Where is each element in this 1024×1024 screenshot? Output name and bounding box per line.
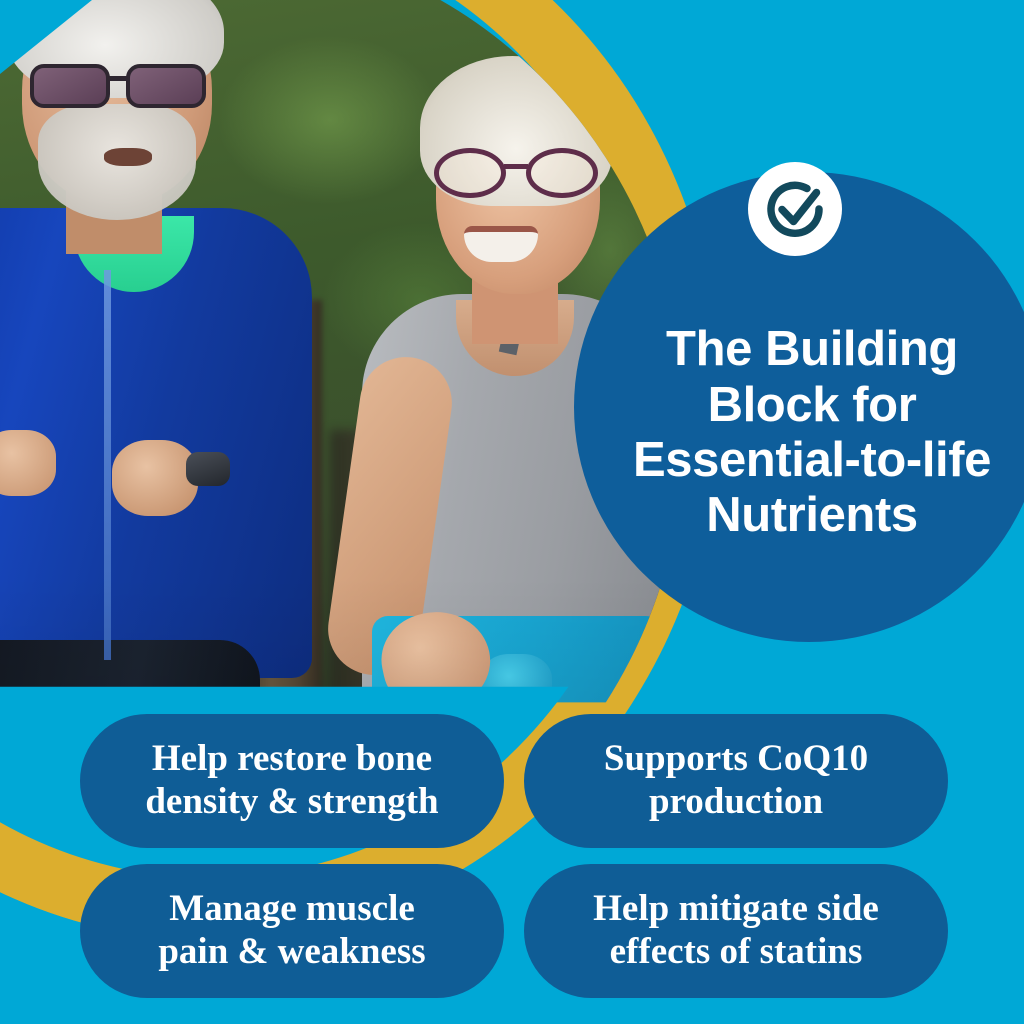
headline-line-3: Essential-to-life [602,433,1022,488]
benefit-text: Help mitigate side effects of statins [593,888,879,974]
sunglass-lens-left [30,64,110,108]
eyeglass-lens-right [526,148,598,198]
headline-line-2: Block for [602,378,1022,433]
benefit-line-1: Manage muscle [158,888,425,931]
benefit-pill-statin-side-effects[interactable]: Help mitigate side effects of statins [524,864,948,998]
benefit-text: Manage muscle pain & weakness [158,888,425,974]
man-sunglasses [30,64,214,110]
benefit-line-1: Help mitigate side [593,888,879,931]
benefit-pill-muscle-pain[interactable]: Manage muscle pain & weakness [80,864,504,998]
benefit-text: Supports CoQ10 production [604,738,868,824]
sunglass-bridge [108,76,130,81]
woman-eyeglasses [434,148,600,200]
check-circle-icon [762,176,828,242]
benefit-line-1: Supports CoQ10 [604,738,868,781]
man-hand-left [0,430,56,496]
eyeglass-lens-left [434,148,506,198]
page-title: The Building Block for Essential-to-life… [580,322,1024,543]
man-wristwatch [186,452,230,486]
benefit-pill-coq10[interactable]: Supports CoQ10 production [524,714,948,848]
benefit-line-2: production [604,781,868,824]
benefit-line-2: effects of statins [593,931,879,974]
benefit-pill-bone-density[interactable]: Help restore bone density & strength [80,714,504,848]
benefit-text: Help restore bone density & strength [145,738,438,824]
sunglass-lens-right [126,64,206,108]
benefit-line-2: density & strength [145,781,438,824]
benefit-line-2: pain & weakness [158,931,425,974]
promo-graphic: The Building Block for Essential-to-life… [0,0,1024,1024]
man-hand-right [112,440,198,516]
headline-line-1: The Building [602,322,1022,377]
headline-line-4: Nutrients [602,488,1022,543]
man-jacket-zipper [104,270,111,660]
eyeglass-bridge [504,164,528,169]
benefit-line-1: Help restore bone [145,738,438,781]
man-mouth [104,148,152,166]
brand-logo [748,162,842,256]
